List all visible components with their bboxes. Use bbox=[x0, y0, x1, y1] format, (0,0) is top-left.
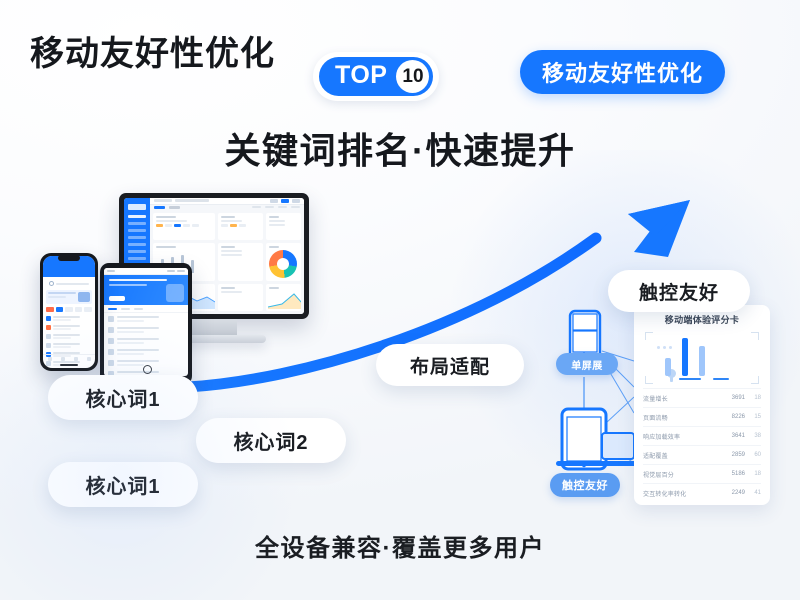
tablet-statusbar bbox=[104, 268, 188, 275]
tablet-screen bbox=[104, 268, 188, 376]
header-tag-pill[interactable]: 移动友好性优化 bbox=[520, 50, 725, 94]
diagram-node-label-top: 单屏展 bbox=[556, 353, 618, 375]
page-title: 移动友好性优化 bbox=[30, 26, 275, 75]
row-value: 8226 bbox=[719, 414, 745, 420]
table-row: 适配覆盖 2859 60 bbox=[643, 445, 761, 464]
list-item bbox=[46, 325, 92, 330]
score-card-title: 移动端体验评分卡 bbox=[643, 313, 761, 326]
row-name: 视觉层百分 bbox=[643, 470, 719, 479]
page-subtitle: 关键词排名·快速提升 bbox=[0, 122, 800, 174]
phone-home-indicator bbox=[60, 364, 78, 366]
phone-outline-icon bbox=[570, 311, 600, 359]
keyword-pill-3[interactable]: 核心词1 bbox=[48, 462, 198, 507]
list-item bbox=[108, 316, 184, 322]
row-name: 页面流畅 bbox=[643, 413, 719, 422]
dashboard-donut-card bbox=[266, 243, 302, 281]
row-value: 2249 bbox=[719, 490, 745, 496]
dashboard-area-card bbox=[266, 284, 302, 311]
phone-mockup bbox=[40, 253, 98, 371]
tablet-banner bbox=[104, 275, 188, 305]
phone-notch bbox=[58, 255, 80, 261]
touch-friendly-diagram: 单屏展 触控友好 移动端体验评分卡 流量增长 3691 bbox=[540, 305, 770, 515]
bar-chart-icon bbox=[665, 338, 705, 376]
row-delta: 18 bbox=[745, 395, 761, 401]
row-delta: 18 bbox=[745, 471, 761, 477]
row-delta: 41 bbox=[745, 490, 761, 496]
row-delta: 15 bbox=[745, 414, 761, 420]
dashboard-card bbox=[218, 243, 262, 281]
sparkline-chart bbox=[268, 291, 302, 309]
phone-quick-icons bbox=[46, 307, 92, 312]
table-row: 流量增长 3691 18 bbox=[643, 388, 761, 407]
tablet-tabbar bbox=[104, 305, 188, 313]
row-name: 响应加载效率 bbox=[643, 432, 719, 441]
phone-tabbar bbox=[43, 354, 95, 363]
row-name: 流量增长 bbox=[643, 394, 719, 403]
row-value: 2859 bbox=[719, 452, 745, 458]
table-row: 响应加载效率 3641 38 bbox=[643, 426, 761, 445]
top-rank-word: TOP bbox=[335, 63, 387, 90]
touch-friendly-pill[interactable]: 触控友好 bbox=[608, 270, 750, 312]
score-card: 移动端体验评分卡 流量增长 3691 18 bbox=[634, 305, 770, 505]
table-row: 页面流畅 8226 15 bbox=[643, 407, 761, 426]
phone-outline-icon bbox=[562, 409, 606, 469]
footer-tagline: 全设备兼容·覆盖更多用户 bbox=[0, 528, 800, 563]
dashboard-nav-item bbox=[128, 250, 146, 253]
diagram-node-label-bottom: 触控友好 bbox=[550, 473, 620, 497]
tablet-home-button bbox=[143, 365, 152, 374]
top-rank-badge: TOP 10 bbox=[313, 52, 439, 101]
table-row: 视觉层百分 5186 18 bbox=[643, 464, 761, 483]
list-item bbox=[46, 334, 92, 339]
dashboard-nav-item bbox=[128, 243, 146, 246]
dashboard-nav-item bbox=[128, 222, 146, 225]
dashboard-nav-item bbox=[128, 215, 146, 218]
list-item bbox=[46, 316, 92, 321]
tablet-mockup bbox=[100, 263, 192, 385]
list-item bbox=[108, 349, 184, 355]
dashboard-nav-item bbox=[128, 257, 146, 260]
top-rank-number: 10 bbox=[396, 60, 429, 93]
row-value: 3641 bbox=[719, 433, 745, 439]
poster-canvas: 移动友好性优化 TOP 10 移动友好性优化 关键词排名·快速提升 bbox=[0, 0, 800, 600]
dashboard-card bbox=[266, 213, 302, 240]
dashboard-nav-item bbox=[128, 229, 146, 232]
dashboard-topbar bbox=[150, 198, 304, 205]
donut-chart bbox=[269, 250, 297, 278]
monitor-stand bbox=[191, 319, 237, 336]
score-card-chart bbox=[645, 332, 759, 384]
row-delta: 38 bbox=[745, 433, 761, 439]
phone-search-bar bbox=[46, 280, 92, 287]
row-name: 适配覆盖 bbox=[643, 451, 719, 460]
list-item bbox=[46, 343, 92, 348]
layout-adapt-pill[interactable]: 布局适配 bbox=[376, 344, 524, 386]
keyword-pill-1[interactable]: 核心词1 bbox=[48, 375, 198, 420]
row-value: 3691 bbox=[719, 395, 745, 401]
top-rank-badge-inner: TOP 10 bbox=[319, 57, 433, 96]
list-item bbox=[108, 327, 184, 333]
dashboard-card bbox=[218, 213, 262, 240]
keyword-pill-2[interactable]: 核心词2 bbox=[196, 418, 346, 463]
row-value: 5186 bbox=[719, 471, 745, 477]
row-name: 交互转化率转化 bbox=[643, 489, 719, 498]
table-row: 交互转化率转化 2249 41 bbox=[643, 483, 761, 502]
score-card-rows: 流量增长 3691 18 页面流畅 8226 15 响应加载效率 3641 38… bbox=[643, 388, 761, 502]
dashboard-card bbox=[218, 284, 262, 311]
list-item bbox=[108, 338, 184, 344]
phone-promo-card bbox=[46, 290, 92, 304]
phone-screen bbox=[43, 256, 95, 368]
dashboard-card bbox=[153, 213, 215, 240]
dashboard-nav-item bbox=[128, 236, 146, 239]
dashboard-logo bbox=[128, 204, 146, 210]
row-delta: 60 bbox=[745, 452, 761, 458]
